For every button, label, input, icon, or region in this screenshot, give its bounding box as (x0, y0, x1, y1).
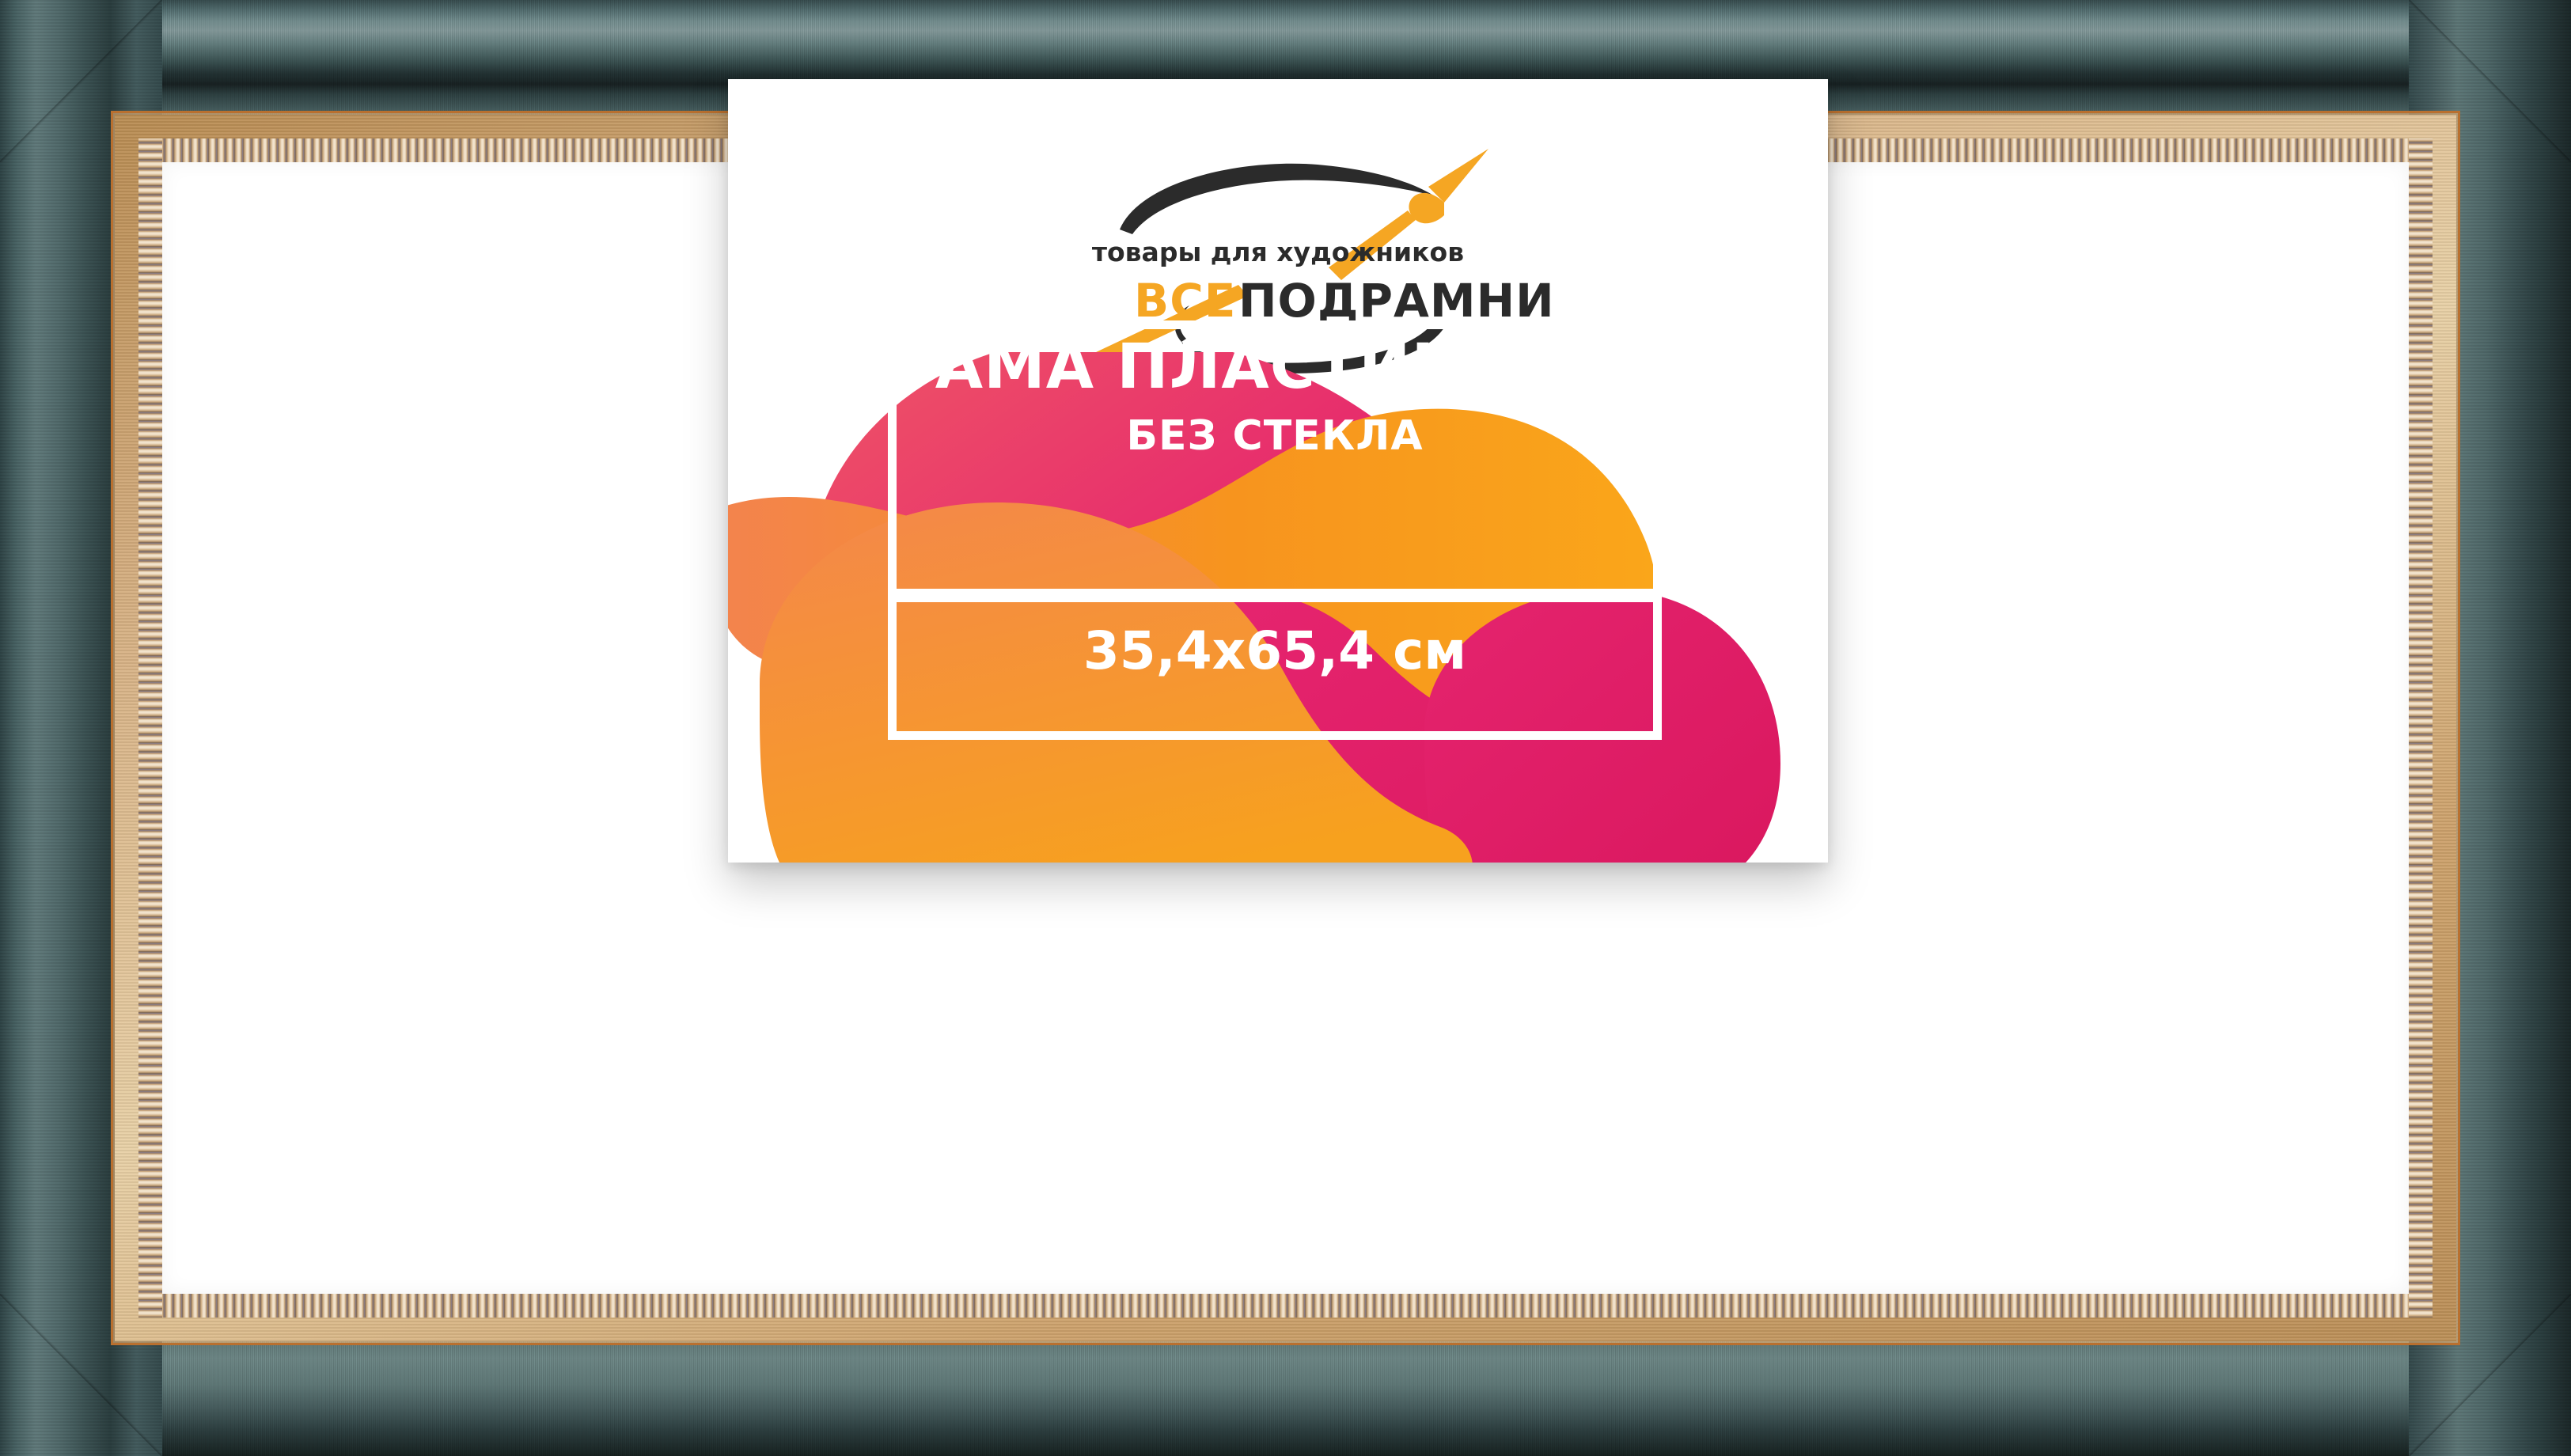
brand-name-podramniki: подрамники (1238, 274, 1555, 328)
brand-tagline: товары для художников (1092, 237, 1464, 267)
frame-bead-strip-bottom (138, 1294, 2433, 1318)
product-title: РАМА ПЛАСТИКОВАЯ (888, 336, 1662, 398)
product-subtitle: БЕЗ СТЕКЛА (888, 415, 1662, 457)
frame-bead-strip-left (138, 138, 162, 1318)
product-image: товары для художников все подрамники (0, 0, 2571, 1456)
frame-bead-strip-right (2409, 138, 2433, 1318)
brand-name-vse: все (1134, 274, 1236, 328)
product-size: 35,4х65,4 см (888, 625, 1662, 677)
product-label-card: товары для художников все подрамники (728, 79, 1828, 863)
